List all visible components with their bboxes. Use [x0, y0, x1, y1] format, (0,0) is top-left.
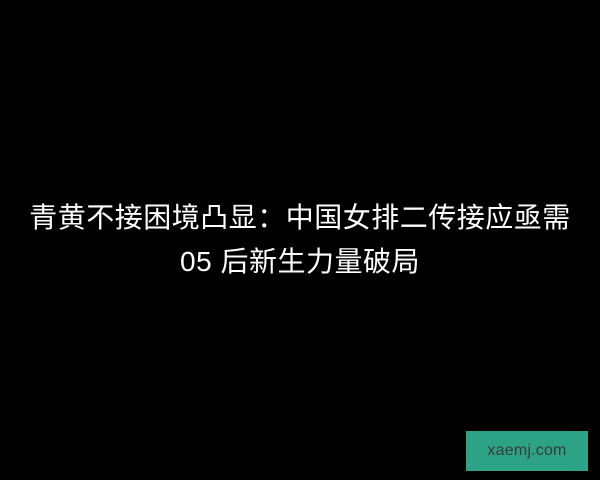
watermark-label: xaemj.com: [487, 443, 566, 459]
title-card-canvas: 青黄不接困境凸显：中国女排二传接应亟需 05 后新生力量破局 xaemj.com: [0, 0, 600, 480]
headline-container: 青黄不接困境凸显：中国女排二传接应亟需 05 后新生力量破局: [0, 0, 600, 480]
watermark-badge: xaemj.com: [466, 431, 588, 471]
page-title: 青黄不接困境凸显：中国女排二传接应亟需 05 后新生力量破局: [22, 196, 578, 284]
